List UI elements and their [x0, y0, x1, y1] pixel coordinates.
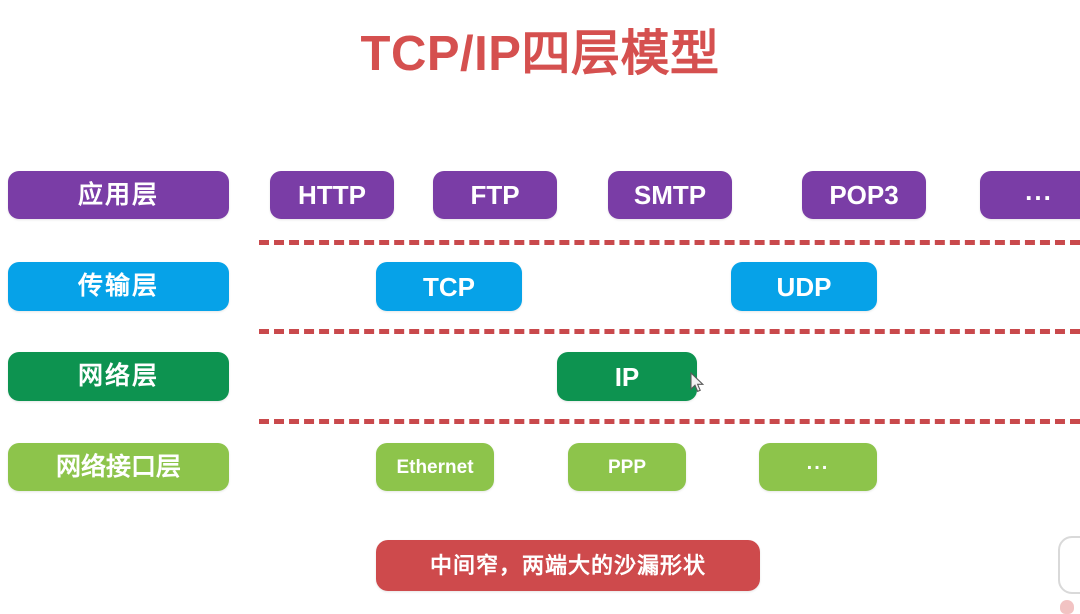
summary-banner-label: 中间窄，两端大的沙漏形状: [430, 555, 706, 577]
protocol-label: PPP: [608, 458, 646, 477]
protocol-box-ftp: FTP: [433, 171, 557, 219]
page-title: TCP/IP四层模型: [0, 28, 1080, 82]
ellipsis-label: ...: [807, 453, 830, 473]
protocol-label: FTP: [470, 182, 519, 208]
layer-plate-network: 网络层: [8, 352, 229, 401]
protocol-box-smtp: SMTP: [608, 171, 732, 219]
layer-plate-application: 应用层: [8, 171, 229, 219]
layer-plate-label: 网络接口层: [56, 455, 181, 480]
layer-plate-transport: 传输层: [8, 262, 229, 311]
protocol-box-link-more: ...: [759, 443, 877, 491]
protocol-box-ethernet: Ethernet: [376, 443, 494, 491]
protocol-label: TCP: [423, 274, 475, 300]
mouse-pointer-icon: [690, 372, 706, 394]
protocol-box-ppp: PPP: [568, 443, 686, 491]
layer-plate-label: 应用层: [78, 183, 159, 208]
protocol-label: IP: [615, 364, 640, 390]
protocol-box-pop3: POP3: [802, 171, 926, 219]
summary-banner: 中间窄，两端大的沙漏形状: [376, 540, 760, 591]
layer-plate-link: 网络接口层: [8, 443, 229, 491]
protocol-box-ip: IP: [557, 352, 697, 401]
divider-transport-network: [259, 329, 1080, 334]
offscreen-card-edge: [1058, 536, 1080, 594]
protocol-label: POP3: [829, 182, 898, 208]
protocol-label: SMTP: [634, 182, 706, 208]
ellipsis-label: ...: [1025, 178, 1053, 204]
layer-plate-label: 网络层: [78, 364, 159, 389]
protocol-box-http: HTTP: [270, 171, 394, 219]
diagram-canvas: TCP/IP四层模型 应用层 传输层 网络层 网络接口层 HTTP FTP SM…: [0, 0, 1080, 612]
protocol-box-tcp: TCP: [376, 262, 522, 311]
protocol-box-udp: UDP: [731, 262, 877, 311]
protocol-label: UDP: [777, 274, 832, 300]
protocol-label: HTTP: [298, 182, 366, 208]
protocol-label: Ethernet: [396, 458, 473, 477]
divider-network-link: [259, 419, 1080, 424]
protocol-box-application-more: ...: [980, 171, 1080, 219]
divider-application-transport: [259, 240, 1080, 245]
layer-plate-label: 传输层: [78, 274, 159, 299]
